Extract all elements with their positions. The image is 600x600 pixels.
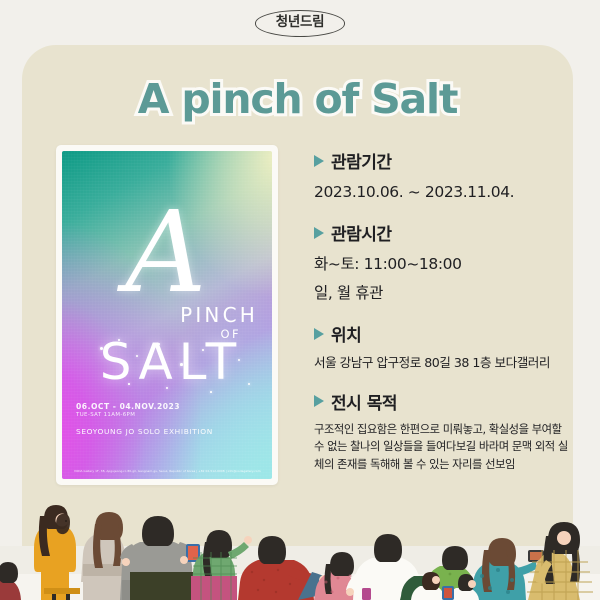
info-section-header: 관람시간	[314, 220, 572, 245]
exhibition-info-column: 관람기간 2023.10.06. ~ 2023.11.04. 관람시간 화~토:…	[314, 148, 572, 473]
poster-salt-text: SALT	[76, 337, 266, 387]
triangle-bullet-icon	[314, 227, 324, 239]
info-section-value: 일, 월 휴관	[314, 281, 572, 305]
sparkle-icon	[158, 343, 160, 345]
page-title: A pinch of Salt	[22, 77, 573, 122]
info-section-header: 전시 목적	[314, 389, 572, 414]
top-badge-container: 청년드림	[0, 10, 600, 37]
exhibition-poster-artwork: A PINCH OF SALT 06.OCT - 04.NOV.2023 TUE…	[62, 151, 272, 479]
info-section-value: 2023.10.06. ~ 2023.11.04.	[314, 180, 572, 204]
info-section-address: 서울 강남구 압구정로 80길 38 1층 보다갤러리	[314, 353, 572, 373]
sparkle-icon	[100, 347, 103, 350]
info-section-title: 전시 목적	[331, 389, 397, 414]
info-section-value: 화~토: 11:00~18:00	[314, 252, 572, 276]
info-section-header: 관람기간	[314, 148, 572, 173]
cup-icon	[362, 588, 371, 600]
triangle-bullet-icon	[314, 328, 324, 340]
poster-gallery-footer: VODA Gallery 1F, 38, Apgujeong-ro 80-gil…	[74, 470, 262, 473]
poster-date-block: 06.OCT - 04.NOV.2023 TUE-SAT 11AM-6PM	[76, 401, 180, 420]
info-section-period: 관람기간 2023.10.06. ~ 2023.11.04.	[314, 148, 572, 204]
top-badge: 청년드림	[255, 10, 345, 37]
sparkle-icon	[180, 363, 183, 366]
info-section-title: 위치	[331, 321, 361, 346]
info-section-purpose: 전시 목적 구조적인 집요함은 한편으로 미뤄놓고, 확실성을 부여할 수 없는…	[314, 389, 572, 474]
triangle-bullet-icon	[314, 155, 324, 167]
exhibition-poster-frame[interactable]: A PINCH OF SALT 06.OCT - 04.NOV.2023 TUE…	[56, 145, 278, 485]
poster-opening-hours: TUE-SAT 11AM-6PM	[76, 412, 180, 420]
poster-date-range: 06.OCT - 04.NOV.2023	[76, 401, 180, 412]
poster-solo-exhibition-label: SEOYOUNG JO SOLO EXHIBITION	[76, 427, 213, 436]
sparkle-icon	[128, 383, 130, 385]
sparkle-icon	[210, 391, 212, 393]
sparkle-icon	[238, 359, 240, 361]
poster-pinch-text: PINCH	[180, 303, 258, 327]
info-section-header: 위치	[314, 321, 572, 346]
info-purpose-body: 구조적인 집요함은 한편으로 미뤄놓고, 확실성을 부여할 수 없는 찰나의 일…	[314, 421, 572, 474]
info-section-title: 관람기간	[331, 148, 392, 173]
triangle-bullet-icon	[314, 395, 324, 407]
info-section-hours: 관람시간 화~토: 11:00~18:00 일, 월 휴관	[314, 220, 572, 305]
exhibition-visitors-illustration	[0, 488, 600, 600]
info-section-location: 위치 서울 강남구 압구정로 80길 38 1층 보다갤러리	[314, 321, 572, 373]
sparkle-icon	[118, 339, 120, 341]
sparkle-icon	[202, 349, 204, 351]
info-section-title: 관람시간	[331, 220, 392, 245]
